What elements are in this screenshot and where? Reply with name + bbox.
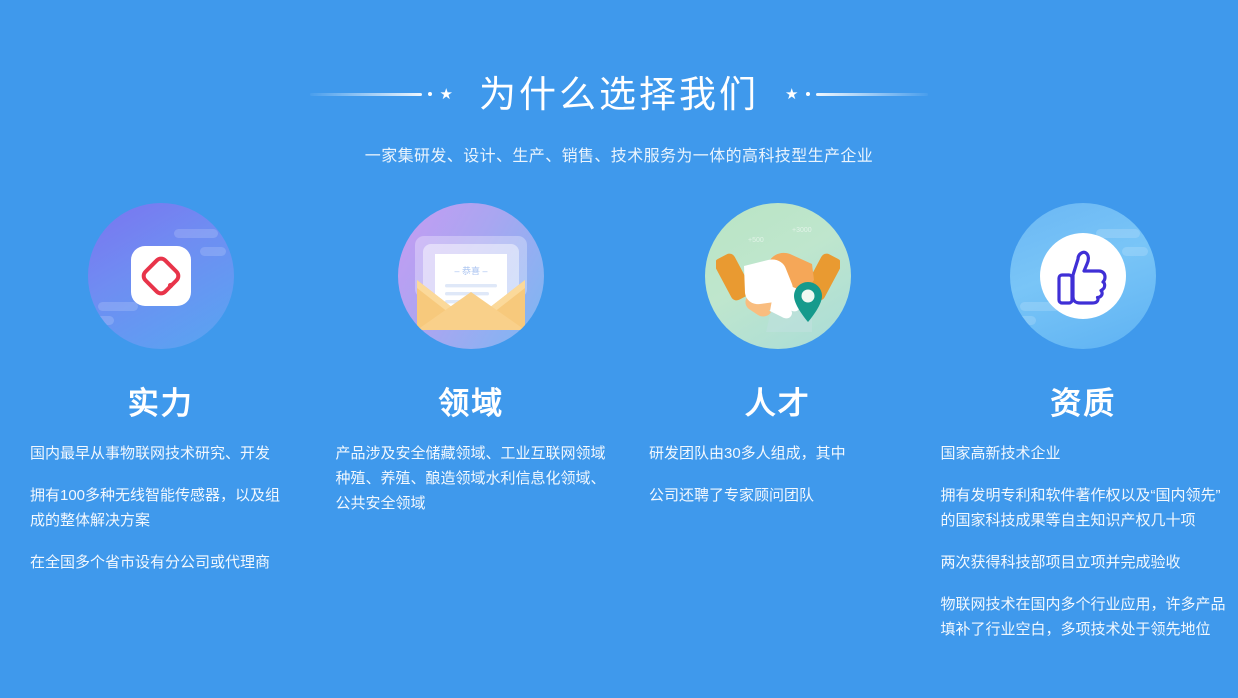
title-decoration-left: ★	[310, 84, 453, 104]
decoration-dot-icon	[428, 92, 432, 96]
streak-decoration	[1014, 316, 1036, 325]
icon-circle-talent: +500 +3000	[705, 203, 851, 349]
title-row: ★ 为什么选择我们 ★	[0, 66, 1238, 122]
decoration-line-icon	[816, 93, 928, 96]
body-paragraph: 两次获得科技部项目立项并完成验收	[941, 550, 1227, 575]
body-paragraph: 国内最早从事物联网技术研究、开发	[30, 441, 292, 466]
body-paragraph: 拥有发明专利和软件著作权以及“国内领先”的国家科技成果等自主知识产权几十项	[941, 483, 1227, 533]
icon-circle-domain: – 恭喜 –	[398, 203, 544, 349]
thumbs-up-icon	[1040, 233, 1126, 319]
column-body: 国内最早从事物联网技术研究、开发 拥有100多种无线智能传感器，以及组成的整体解…	[30, 441, 292, 575]
streak-decoration	[92, 316, 114, 325]
body-paragraph: 在全国多个省市设有分公司或代理商	[30, 550, 292, 575]
decoration-star-icon: ★	[785, 87, 798, 102]
icon-circle-qualification	[1010, 203, 1156, 349]
page-subtitle: 一家集研发、设计、生产、销售、技术服务为一体的高科技型生产企业	[0, 149, 1238, 165]
body-paragraph: 研发团队由30多人组成，其中	[649, 441, 907, 466]
decoration-star-icon: ★	[440, 87, 453, 102]
section-header: ★ 为什么选择我们 ★ 一家集研发、设计、生产、销售、技术服务为一体的高科技型生…	[0, 0, 1238, 165]
icon-circle-strength	[88, 203, 234, 349]
background-mark: +500	[748, 237, 764, 244]
feature-column-qualification: 资质 国家高新技术企业 拥有发明专利和软件著作权以及“国内领先”的国家科技成果等…	[929, 203, 1238, 642]
page-title: 为什么选择我们	[479, 76, 759, 113]
feature-column-strength: 实力 国内最早从事物联网技术研究、开发 拥有100多种无线智能传感器，以及组成的…	[0, 203, 310, 642]
feature-column-talent: +500 +3000	[619, 203, 929, 642]
body-paragraph: 产品涉及安全储藏领域、工业互联网领域种殖、养殖、酿造领域水利信息化领域、公共安全…	[336, 441, 608, 516]
letter-greeting-text: – 恭喜 –	[455, 265, 488, 276]
feature-column-domain: – 恭喜 – 领域 产品涉及安全储藏领域、工业互联网领域种殖、养殖、酿造领域水利…	[310, 203, 620, 642]
red-diamond-badge-icon	[131, 246, 191, 306]
column-title: 实力	[128, 388, 194, 419]
streak-decoration	[200, 247, 226, 256]
column-title: 人才	[745, 388, 811, 419]
decoration-dot-icon	[806, 92, 810, 96]
body-paragraph: 拥有100多种无线智能传感器，以及组成的整体解决方案	[30, 483, 292, 533]
feature-columns: 实力 国内最早从事物联网技术研究、开发 拥有100多种无线智能传感器，以及组成的…	[0, 203, 1238, 642]
why-choose-us-section: ★ 为什么选择我们 ★ 一家集研发、设计、生产、销售、技术服务为一体的高科技型生…	[0, 0, 1238, 698]
column-title: 资质	[1050, 388, 1116, 419]
envelope-letter-icon: – 恭喜 –	[407, 218, 535, 334]
column-body: 国家高新技术企业 拥有发明专利和软件著作权以及“国内领先”的国家科技成果等自主知…	[941, 441, 1227, 642]
body-paragraph: 国家高新技术企业	[941, 441, 1227, 466]
body-paragraph: 公司还聘了专家顾问团队	[649, 483, 907, 508]
column-title: 领域	[438, 388, 504, 419]
handshake-location-icon: +500 +3000	[716, 220, 840, 332]
streak-decoration	[174, 229, 218, 238]
title-decoration-right: ★	[785, 84, 928, 104]
column-body: 产品涉及安全储藏领域、工业互联网领域种殖、养殖、酿造领域水利信息化领域、公共安全…	[336, 441, 608, 516]
body-paragraph: 物联网技术在国内多个行业应用，许多产品填补了行业空白，多项技术处于领先地位	[941, 592, 1227, 642]
column-body: 研发团队由30多人组成，其中 公司还聘了专家顾问团队	[649, 441, 907, 508]
decoration-line-icon	[310, 93, 422, 96]
background-mark: +3000	[792, 227, 812, 234]
